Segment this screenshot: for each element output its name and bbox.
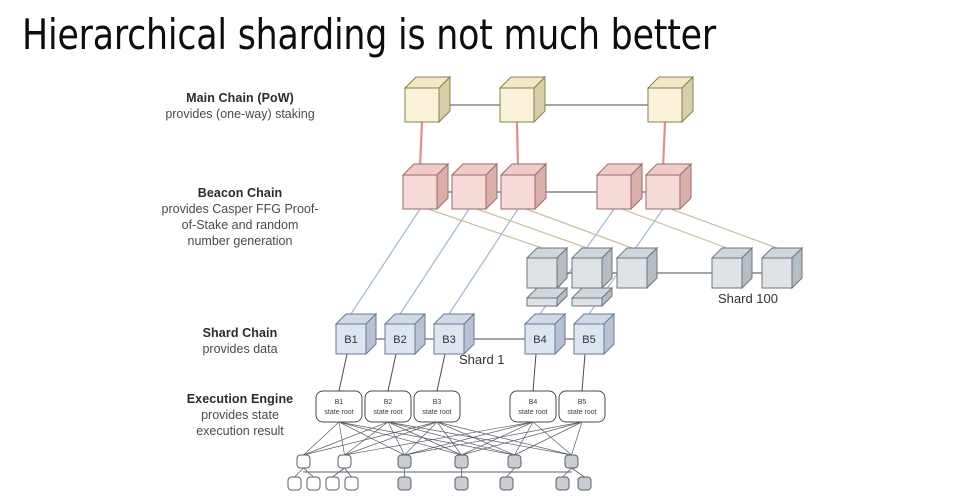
merkle-leaf-upper-6	[565, 455, 578, 468]
beacon-to-shard100-link-5	[671, 209, 777, 248]
cube-front-face	[527, 258, 557, 288]
stateroot-to-leaf-link-2-0	[304, 422, 438, 455]
block-to-stateroot-link-4	[533, 354, 536, 391]
state-root-box-b2: B2state root	[365, 391, 411, 422]
merkle-leaf-upper-3	[398, 455, 411, 468]
stateroot-to-leaf-link-4-2	[405, 422, 583, 455]
staking-link-1	[420, 122, 422, 168]
main-chain-cube-2	[500, 77, 545, 122]
cube-front-face	[646, 175, 680, 209]
state-root-box-subtitle: state root	[567, 409, 596, 416]
stateroot-to-leaf-link-3-4	[515, 422, 534, 455]
shard100-echo-slab-1	[527, 288, 567, 306]
shard1-block-b1: B1	[336, 314, 376, 354]
beacon-chain-cube-3	[501, 164, 546, 209]
cube-front-face	[597, 175, 631, 209]
merkle-leaf-upper-5	[508, 455, 521, 468]
cube-front-face	[712, 258, 742, 288]
state-root-box-b1: B1state root	[316, 391, 362, 422]
main-chain-cube-1	[405, 77, 450, 122]
block-to-stateroot-link-5	[582, 354, 585, 391]
shard100-cube-2	[572, 248, 612, 288]
state-root-box-title: B2	[384, 399, 393, 406]
state-root-box-subtitle: state root	[324, 409, 353, 416]
beacon-chain-cube-4	[597, 164, 642, 209]
stateroot-to-leaf-link-1-0	[304, 422, 389, 455]
merkle-leaf-lower-4	[345, 477, 358, 490]
beacon-to-shard100-link-1	[428, 209, 542, 248]
merkle-parent-child-link-0-0	[295, 468, 304, 477]
state-root-box-frame	[559, 391, 605, 422]
beacon-to-shard100-link-3	[526, 209, 632, 248]
beacon-to-shard100-link-2	[477, 209, 587, 248]
diagram-merkle-tree	[288, 422, 591, 490]
state-root-box-frame	[365, 391, 411, 422]
merkle-leaf-upper-2	[338, 455, 351, 468]
merkle-leaf-lower-1	[288, 477, 301, 490]
state-root-box-b4: B4state root	[510, 391, 556, 422]
main-chain-cube-3	[648, 77, 693, 122]
merkle-leaf-upper-4	[455, 455, 468, 468]
merkle-leaf-lower-6	[455, 477, 468, 490]
state-root-box-b5: B5state root	[559, 391, 605, 422]
state-root-box-frame	[414, 391, 460, 422]
cube-front-face	[572, 258, 602, 288]
cube-label: B4	[533, 334, 546, 346]
beacon-chain-cube-5	[646, 164, 691, 209]
cube-front-face	[762, 258, 792, 288]
shard-label-1: Shard 1	[459, 352, 505, 367]
shard1-block-b2: B2	[385, 314, 425, 354]
state-root-box-subtitle: state root	[422, 409, 451, 416]
staking-link-3	[663, 122, 665, 168]
diagram-text: Shard 1Shard 100	[459, 291, 778, 367]
cube-label: B1	[344, 334, 357, 346]
state-root-box-frame	[316, 391, 362, 422]
merkle-leaf-lower-7	[500, 477, 513, 490]
diagram-cubes: B1B2B3B4B5	[336, 77, 802, 354]
merkle-leaf-upper-1	[297, 455, 310, 468]
stateroot-to-leaf-link-4-4	[515, 422, 583, 455]
merkle-parent-child-link-5-8	[572, 468, 585, 477]
state-root-box-title: B4	[529, 399, 538, 406]
shard1-block-b4: B4	[525, 314, 565, 354]
cube-front-face	[648, 88, 682, 122]
block-to-stateroot-link-2	[388, 354, 396, 391]
diagram-state-boxes: B1state rootB2state rootB3state rootB4st…	[316, 391, 605, 422]
shard-label-2: Shard 100	[718, 291, 778, 306]
cube-front-face	[403, 175, 437, 209]
block-to-stateroot-link-1	[339, 354, 347, 391]
cube-front-face	[501, 175, 535, 209]
beacon-chain-cube-2	[452, 164, 497, 209]
stateroot-to-leaf-link-4-5	[572, 422, 583, 455]
stateroot-to-leaf-link-0-1	[339, 422, 345, 455]
beacon-chain-cube-1	[403, 164, 448, 209]
shard100-cube-5	[762, 248, 802, 288]
state-root-box-title: B3	[433, 399, 442, 406]
shard100-cube-3	[617, 248, 657, 288]
cube-front-face	[452, 175, 486, 209]
cube-label: B5	[582, 334, 595, 346]
stateroot-to-leaf-link-0-4	[339, 422, 515, 455]
cube-front-face	[617, 258, 647, 288]
shard100-cube-4	[712, 248, 752, 288]
state-root-box-frame	[510, 391, 556, 422]
merkle-leaf-lower-5	[398, 477, 411, 490]
stateroot-to-leaf-link-0-0	[304, 422, 340, 455]
cube-front-face	[500, 88, 534, 122]
state-root-box-b3: B3state root	[414, 391, 460, 422]
cube-front-face	[405, 88, 439, 122]
slide-canvas: Hierarchical sharding is not much better…	[0, 0, 960, 502]
shard100-echo-slab-2	[572, 288, 612, 306]
merkle-leaf-lower-2	[307, 477, 320, 490]
merkle-leaf-lower-9	[578, 477, 591, 490]
slab-front-face	[527, 298, 557, 306]
shard100-cube-1	[527, 248, 567, 288]
state-root-box-title: B5	[578, 399, 587, 406]
shard1-block-b3: B3	[434, 314, 474, 354]
cube-label: B2	[393, 334, 406, 346]
state-root-box-subtitle: state root	[373, 409, 402, 416]
cube-label: B3	[442, 334, 455, 346]
state-root-box-title: B1	[335, 399, 344, 406]
merkle-leaf-lower-8	[556, 477, 569, 490]
sharding-diagram: B1B2B3B4B5 B1state rootB2state rootB3sta…	[0, 0, 960, 502]
beacon-to-shard100-link-4	[622, 209, 727, 248]
block-to-stateroot-link-3	[437, 354, 445, 391]
shard1-block-b5: B5	[574, 314, 614, 354]
staking-link-2	[517, 122, 518, 168]
merkle-leaf-lower-3	[326, 477, 339, 490]
slab-front-face	[572, 298, 602, 306]
state-root-box-subtitle: state root	[518, 409, 547, 416]
